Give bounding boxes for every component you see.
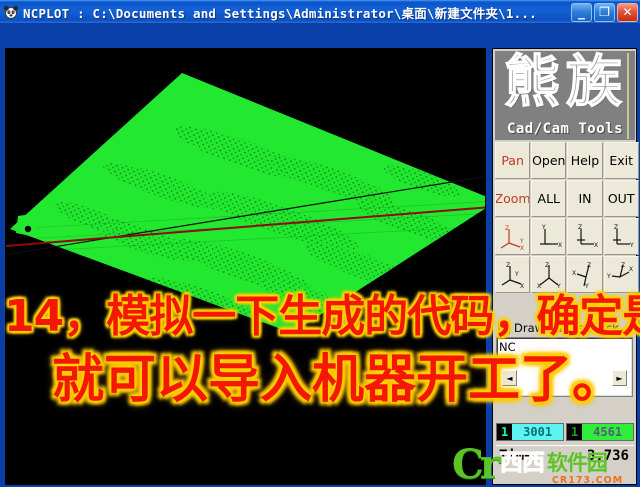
pan-button-label: Pan bbox=[501, 153, 524, 168]
view-iso3-zxy-icon: Z X Y bbox=[534, 261, 564, 289]
maximize-icon: ❐ bbox=[595, 4, 614, 21]
view-iso-zyx-icon: Z Y X bbox=[498, 223, 528, 251]
svg-text:Y: Y bbox=[629, 242, 634, 249]
svg-text:X: X bbox=[572, 270, 576, 277]
maximize-button[interactable]: ❐ bbox=[594, 3, 615, 22]
application-window: NCPLOT : C:\Documents and Settings\Admin… bbox=[0, 0, 640, 487]
close-button[interactable]: ✕ bbox=[617, 3, 638, 22]
minimize-icon: _ bbox=[572, 4, 591, 21]
view-iso5-yzx-button[interactable]: Y Z X bbox=[604, 256, 639, 293]
svg-text:X: X bbox=[629, 266, 633, 273]
help-button-label: Help bbox=[571, 153, 600, 168]
brand-logo-subtitle: Cad/Cam Tools bbox=[495, 121, 635, 137]
view-iso-zyx-button[interactable]: Z Y X bbox=[495, 218, 530, 255]
status-bar-green-value: 4561 bbox=[582, 425, 633, 439]
view-front-yx-button[interactable]: Y X bbox=[531, 218, 566, 255]
svg-text:X: X bbox=[558, 242, 562, 249]
view-iso4-xzy-button[interactable]: X Z Y bbox=[567, 256, 602, 293]
view-iso2-zyx-icon: Z Y X bbox=[498, 261, 528, 289]
svg-text:Z: Z bbox=[545, 262, 549, 269]
zoom-button[interactable]: Zoom bbox=[495, 180, 530, 217]
view-iso2-zyx-button[interactable]: Z Y X bbox=[495, 256, 530, 293]
pan-button[interactable]: Pan bbox=[495, 142, 530, 179]
svg-text:Z: Z bbox=[506, 262, 510, 269]
time-label: Time: bbox=[496, 448, 541, 464]
view-side-zy-button[interactable]: Z Y bbox=[604, 218, 639, 255]
svg-text:Z: Z bbox=[587, 262, 591, 269]
svg-text:Z: Z bbox=[505, 225, 509, 232]
svg-text:X: X bbox=[537, 283, 541, 289]
svg-text:Z: Z bbox=[621, 262, 625, 269]
zoom-button-label: Zoom bbox=[495, 191, 530, 206]
svg-text:Z: Z bbox=[578, 224, 582, 231]
svg-text:Z: Z bbox=[614, 224, 618, 231]
brand-logo: 熊族 Cad/Cam Tools bbox=[495, 51, 635, 140]
svg-text:Y: Y bbox=[514, 271, 519, 278]
status-bar-green-index: 1 bbox=[567, 424, 582, 440]
svg-text:Y: Y bbox=[519, 238, 524, 245]
svg-text:Y: Y bbox=[584, 283, 589, 289]
tool-button-grid: Pan Open Help Exit Zoom ALL IN OUT bbox=[495, 142, 636, 293]
status-bar-cyan-index: 1 bbox=[497, 424, 512, 440]
view-iso4-xzy-icon: X Z Y bbox=[570, 261, 600, 289]
svg-text:Y: Y bbox=[541, 224, 546, 231]
svg-text:X: X bbox=[520, 283, 524, 289]
zoom-all-button-label: ALL bbox=[538, 191, 560, 206]
svg-text:Y: Y bbox=[606, 273, 611, 280]
time-row: Time: 3.736 bbox=[496, 445, 634, 465]
nc-next-button[interactable]: ► bbox=[612, 370, 627, 386]
view-top-zx-icon: Z X bbox=[570, 223, 600, 251]
nc-label: NC bbox=[499, 340, 516, 354]
toolpath-surface bbox=[5, 61, 486, 351]
window-title: NCPLOT : C:\Documents and Settings\Admin… bbox=[23, 3, 569, 22]
view-top-zx-button[interactable]: Z X bbox=[567, 218, 602, 255]
status-bars: 1 3001 1 4561 bbox=[496, 423, 634, 441]
nc-prev-button[interactable]: ◄ bbox=[502, 370, 517, 386]
minimize-button[interactable]: _ bbox=[571, 3, 592, 22]
help-button[interactable]: Help bbox=[567, 142, 602, 179]
svg-text:X: X bbox=[520, 245, 524, 251]
time-value: 3.736 bbox=[587, 448, 634, 464]
status-bar-cyan-value: 3001 bbox=[512, 425, 563, 439]
open-button-label: Open bbox=[532, 153, 565, 168]
close-icon: ✕ bbox=[618, 4, 637, 21]
view-iso3-zxy-button[interactable]: Z X Y bbox=[531, 256, 566, 293]
zoom-out-button-label: OUT bbox=[608, 191, 635, 206]
tool-panel: 熊族 Cad/Cam Tools Pan Open Help Exit Zoom… bbox=[492, 48, 637, 485]
draw-range-block-checkbox[interactable] bbox=[498, 322, 510, 334]
nc-prev-arrow-icon: ◄ bbox=[506, 374, 512, 383]
svg-text:X: X bbox=[594, 242, 598, 249]
view-iso5-yzx-icon: Y Z X bbox=[606, 261, 636, 289]
draw-range-block-label: Draw Range Block bbox=[514, 321, 619, 335]
svg-text:Y: Y bbox=[556, 283, 561, 289]
window-body: 熊族 Cad/Cam Tools Pan Open Help Exit Zoom… bbox=[0, 23, 640, 487]
exit-button[interactable]: Exit bbox=[604, 142, 639, 179]
zoom-all-button[interactable]: ALL bbox=[531, 180, 566, 217]
panda-bear-icon bbox=[3, 4, 19, 20]
title-bar: NCPLOT : C:\Documents and Settings\Admin… bbox=[0, 0, 640, 23]
status-bar-cyan: 1 3001 bbox=[496, 423, 564, 441]
zoom-in-button-label: IN bbox=[578, 191, 591, 206]
plot-viewport[interactable] bbox=[5, 48, 486, 485]
zoom-in-button[interactable]: IN bbox=[567, 180, 602, 217]
draw-range-block-row[interactable]: Draw Range Block bbox=[498, 321, 619, 335]
view-side-zy-icon: Z Y bbox=[606, 223, 636, 251]
exit-button-label: Exit bbox=[609, 153, 633, 168]
view-front-yx-icon: Y X bbox=[534, 223, 564, 251]
status-bar-green: 1 4561 bbox=[566, 423, 634, 441]
nc-next-arrow-icon: ► bbox=[616, 374, 622, 383]
brand-logo-cjk: 熊族 bbox=[499, 51, 633, 117]
open-button[interactable]: Open bbox=[531, 142, 566, 179]
nc-list-panel[interactable]: ◄ ► bbox=[496, 337, 633, 397]
zoom-out-button[interactable]: OUT bbox=[604, 180, 639, 217]
